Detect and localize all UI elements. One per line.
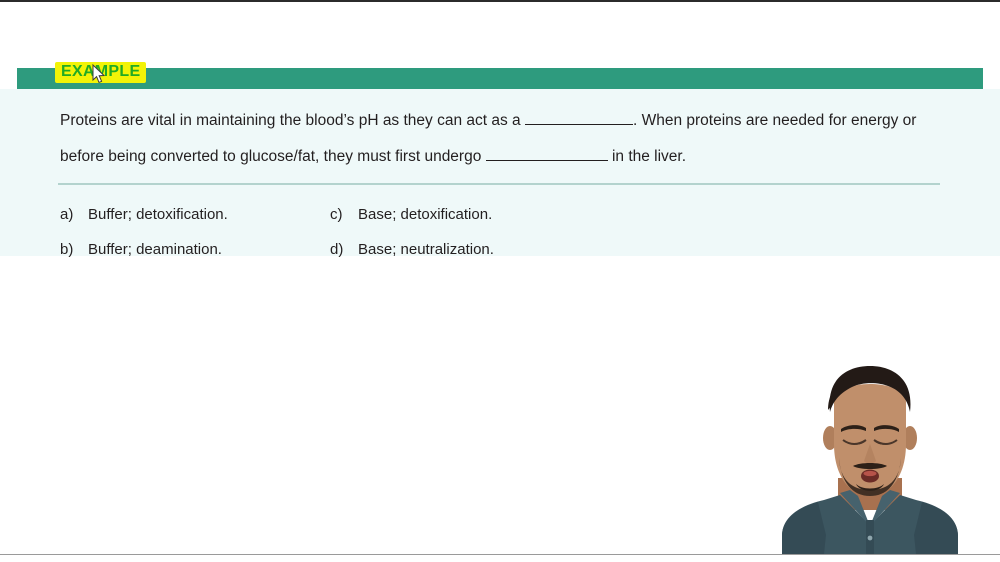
answer-blank-2	[486, 147, 608, 161]
options-divider	[58, 183, 940, 185]
answer-option-c[interactable]: c) Base; detoxification.	[325, 206, 940, 223]
presenter-portrait	[740, 360, 1000, 554]
bottom-divider-rule	[0, 554, 1000, 555]
example-badge: EXAMPLE	[55, 62, 146, 83]
question-part-1: Proteins are vital in maintaining the bl…	[60, 112, 525, 129]
question-part-3: in the liver.	[608, 148, 686, 165]
slide-body: Proteins are vital in maintaining the bl…	[0, 89, 1000, 256]
answer-option-a-text: Buffer; detoxification.	[88, 206, 228, 223]
example-accent-bar	[17, 68, 983, 89]
answer-option-d[interactable]: d) Base; neutralization.	[325, 241, 940, 258]
presenter-webcam-overlay	[740, 360, 1000, 554]
answer-option-b-text: Buffer; deamination.	[88, 241, 222, 258]
answer-option-a-label: a)	[60, 206, 88, 223]
example-slide-card: EXAMPLE Proteins are vital in maintainin…	[0, 68, 1000, 256]
top-divider-rule	[0, 0, 1000, 2]
answer-option-b-label: b)	[60, 241, 88, 258]
answer-option-b[interactable]: b) Buffer; deamination.	[60, 241, 325, 258]
answer-option-d-text: Base; neutralization.	[358, 241, 494, 258]
answer-blank-1	[525, 111, 633, 125]
slide-screen: EXAMPLE Proteins are vital in maintainin…	[0, 0, 1000, 562]
answer-option-c-text: Base; detoxification.	[358, 206, 492, 223]
answer-option-d-label: d)	[330, 241, 358, 258]
question-text: Proteins are vital in maintaining the bl…	[60, 103, 940, 175]
answer-option-a[interactable]: a) Buffer; detoxification.	[60, 206, 325, 223]
answer-option-c-label: c)	[330, 206, 358, 223]
answer-options-grid: a) Buffer; detoxification. c) Base; deto…	[60, 197, 940, 267]
